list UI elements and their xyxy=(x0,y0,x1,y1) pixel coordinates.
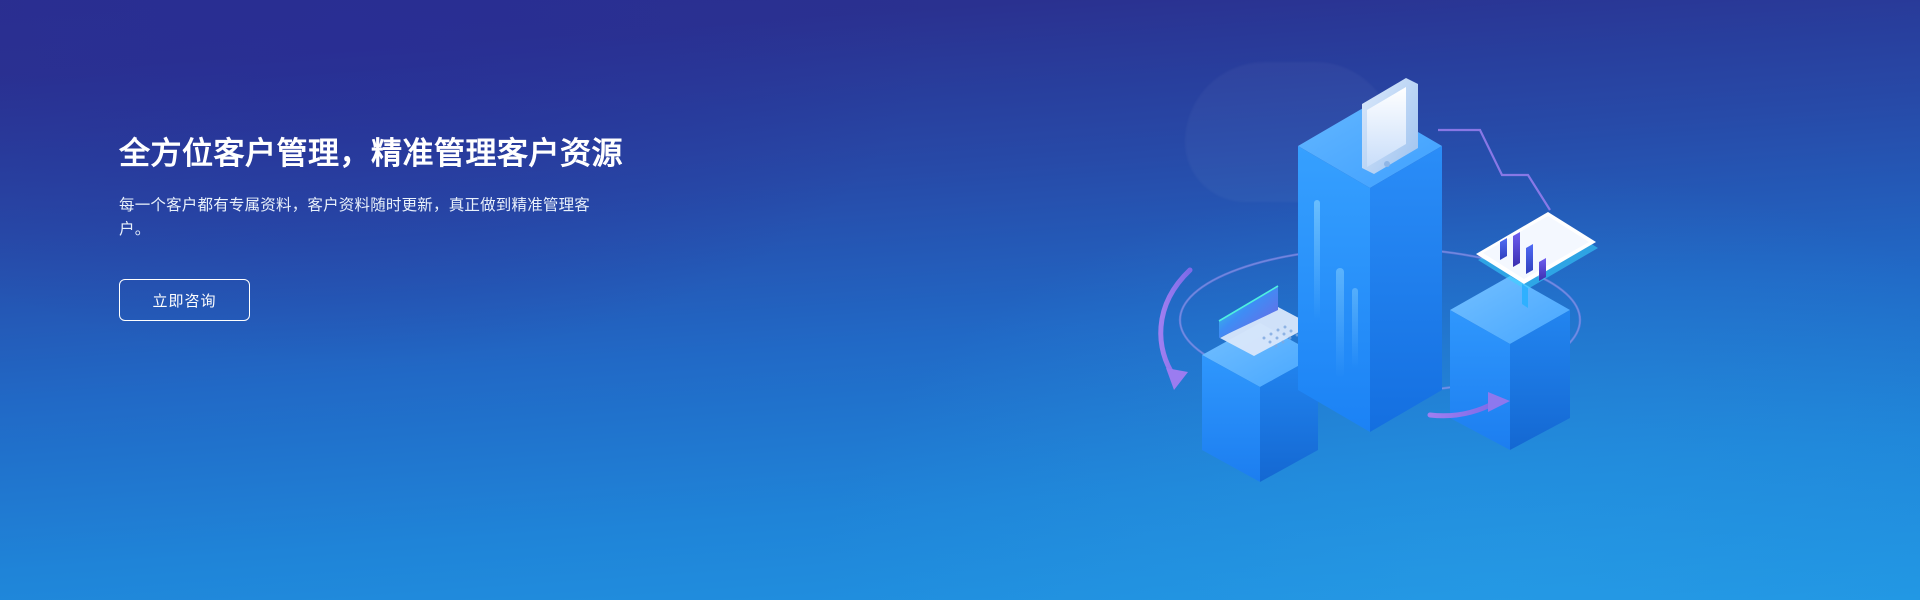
connector-line-icon xyxy=(1438,130,1550,210)
page-title: 全方位客户管理，精准管理客户资源 xyxy=(119,132,759,176)
hero-subtitle: 每一个客户都有专属资料，客户资料随时更新，真正做到精准管理客户。 xyxy=(119,194,597,242)
hero-copy-block: 全方位客户管理，精准管理客户资源 每一个客户都有专属资料，客户资料随时更新，真正… xyxy=(119,132,759,321)
consult-now-button[interactable]: 立即咨询 xyxy=(119,279,250,321)
hero-illustration xyxy=(1130,20,1630,490)
pedestal-right xyxy=(1450,276,1570,450)
hero-banner: 全方位客户管理，精准管理客户资源 每一个客户都有专属资料，客户资料随时更新，真正… xyxy=(0,0,1920,600)
arrow-left-down-icon xyxy=(1161,270,1190,390)
